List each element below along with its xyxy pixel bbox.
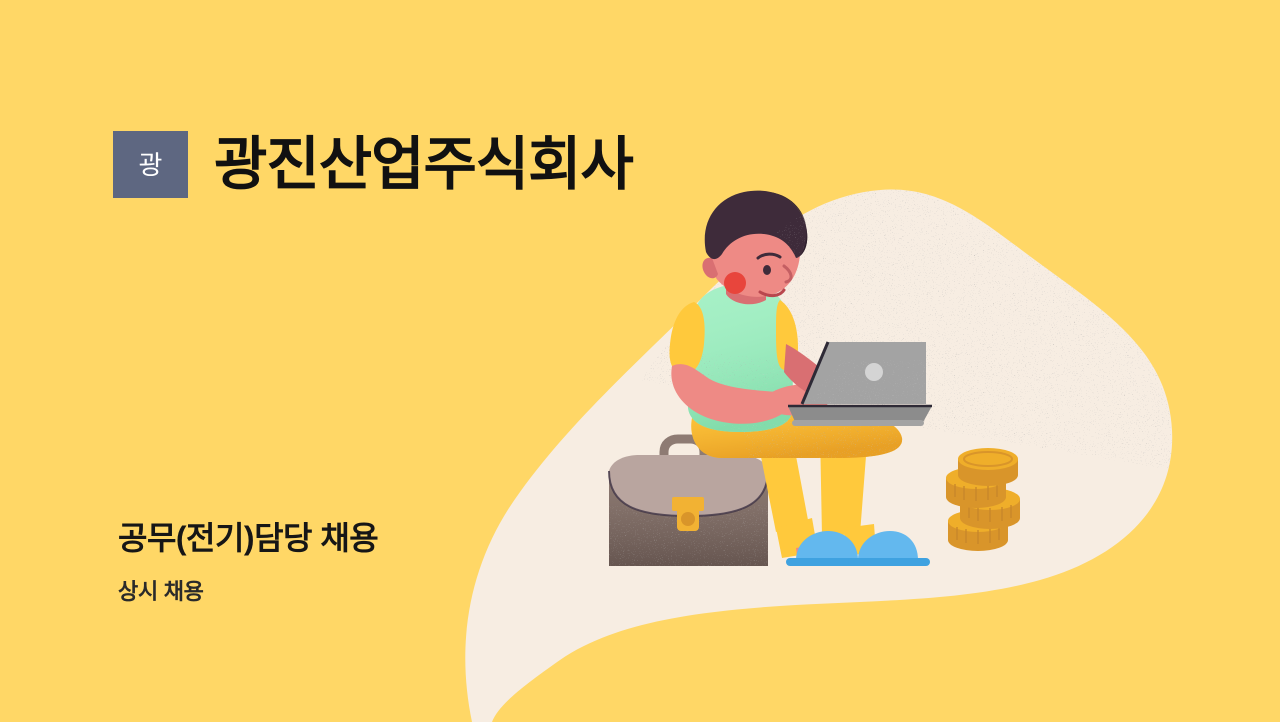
company-header: 광 광진산업주식회사 (113, 131, 633, 198)
illustration-canvas (0, 0, 1280, 722)
company-name: 광진산업주식회사 (214, 136, 633, 194)
briefcase-icon (609, 439, 768, 566)
background-blob (465, 189, 1172, 722)
company-logo-badge[interactable]: 광 (113, 131, 188, 198)
person-illustration (670, 191, 931, 566)
shoe-right (848, 531, 930, 566)
company-logo-initial: 광 (139, 152, 163, 178)
posting-summary: 공무(전기)담당 채용 상시 채용 (118, 520, 378, 604)
employment-type: 상시 채용 (118, 579, 378, 604)
shoe-left (786, 531, 868, 566)
blush (724, 272, 746, 294)
laptop-icon (788, 342, 932, 426)
job-posting-card: 광 광진산업주식회사 공무(전기)담당 채용 상시 채용 (0, 0, 1280, 722)
coin-stack-icon (946, 448, 1020, 551)
job-title: 공무(전기)담당 채용 (118, 520, 378, 557)
